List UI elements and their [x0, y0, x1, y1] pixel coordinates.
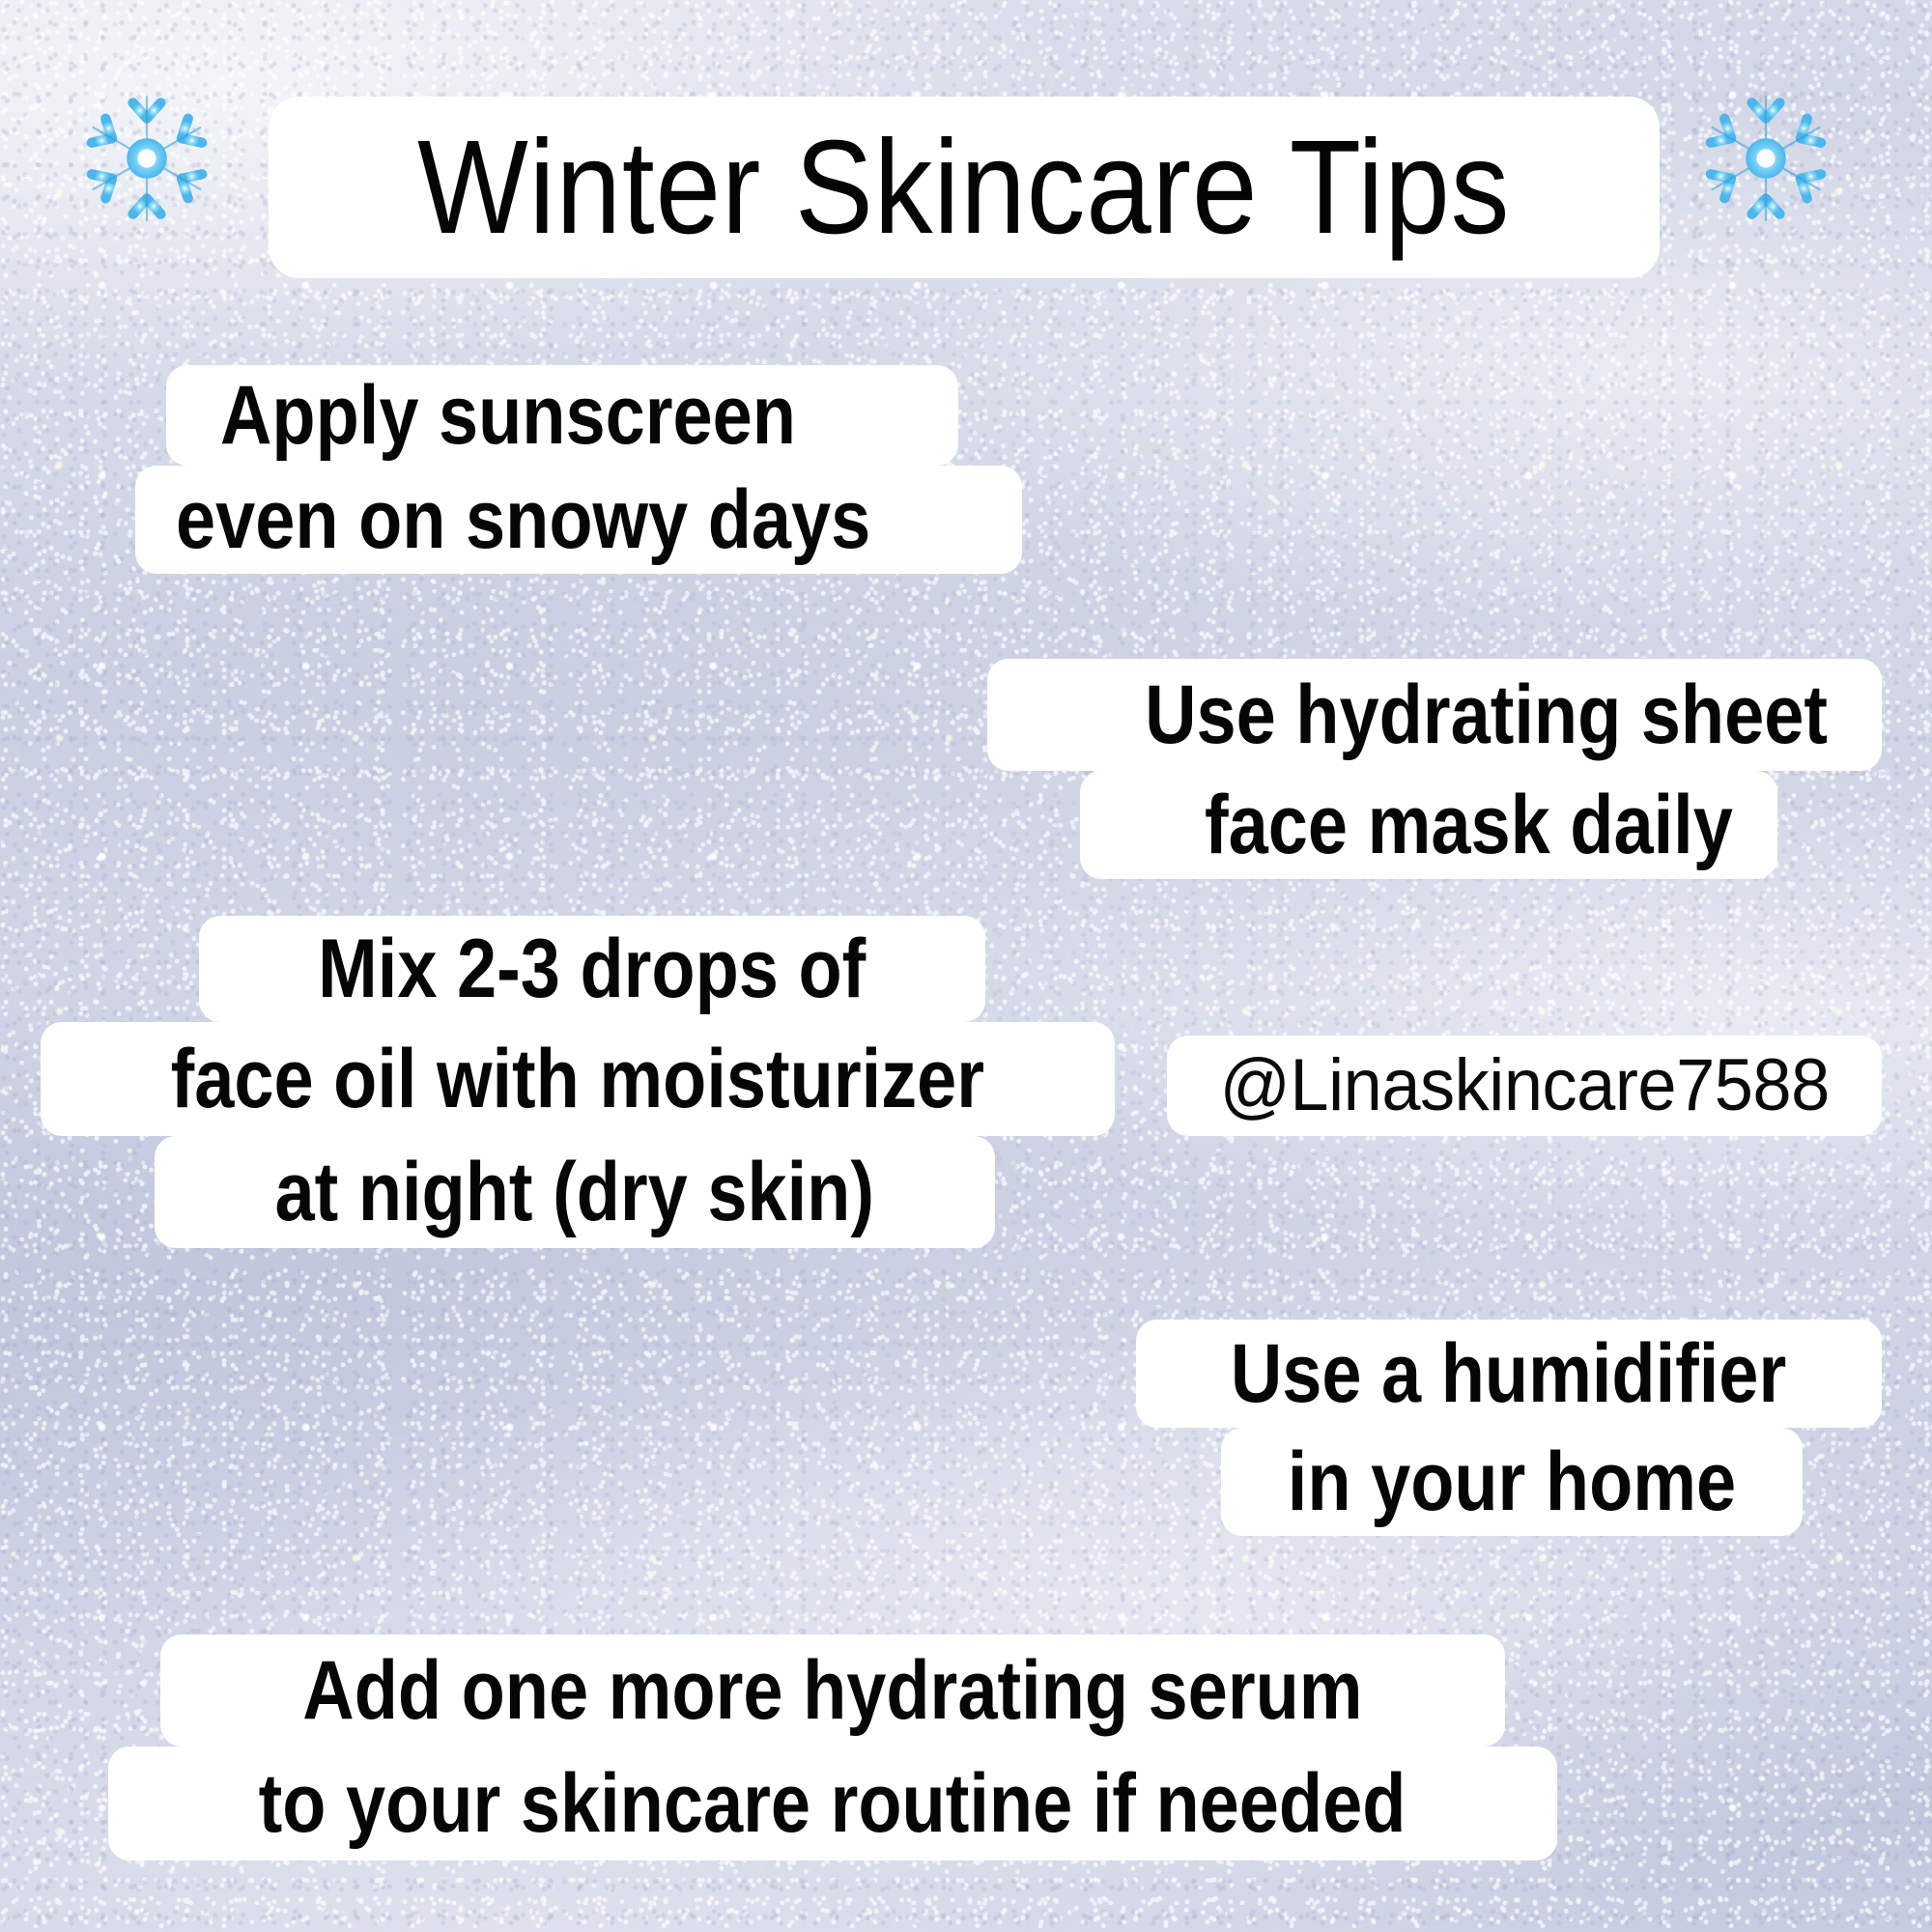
- tip-text: Add one more hydrating serum: [302, 1649, 1362, 1732]
- tip-face-oil-line-1: Mix 2-3 drops of: [199, 916, 985, 1022]
- tip-face-oil-line-2: face oil with moisturizer: [41, 1022, 1115, 1136]
- tip-sunscreen-line-2: even on snowy days: [135, 466, 1022, 574]
- snowflake-icon-right: [1689, 81, 1843, 236]
- tip-text: Apply sunscreen: [220, 374, 796, 457]
- tip-text: at night (dry skin): [275, 1151, 874, 1234]
- tip-text: Use hydrating sheet: [1145, 673, 1828, 756]
- tip-sheet-mask-line-2: face mask daily: [1080, 771, 1777, 879]
- tip-sheet-mask-line-1: Use hydrating sheet: [987, 659, 1882, 771]
- snowflake-icon-left: [70, 81, 224, 236]
- tip-text: Mix 2-3 drops of: [318, 927, 866, 1010]
- tip-serum-line-1: Add one more hydrating serum: [160, 1634, 1505, 1747]
- tip-text: to your skincare routine if needed: [259, 1762, 1406, 1845]
- poster-canvas: Winter Skincare Tips Apply sunscreen eve…: [0, 0, 1932, 1932]
- tip-text: in your home: [1288, 1440, 1736, 1523]
- tip-humidifier-line-1: Use a humidifier: [1136, 1320, 1882, 1428]
- tip-text: even on snowy days: [176, 478, 870, 561]
- tip-humidifier-line-2: in your home: [1221, 1428, 1803, 1536]
- page-title-chip: Winter Skincare Tips: [269, 97, 1660, 278]
- account-handle: @Linaskincare7588: [1219, 1049, 1829, 1122]
- tip-serum-line-2: to your skincare routine if needed: [108, 1747, 1557, 1861]
- tip-sunscreen-line-1: Apply sunscreen: [166, 365, 958, 466]
- account-handle-chip[interactable]: @Linaskincare7588: [1167, 1036, 1882, 1136]
- tip-text: face oil with moisturizer: [171, 1037, 984, 1121]
- tip-face-oil-line-3: at night (dry skin): [155, 1136, 995, 1248]
- page-title: Winter Skincare Tips: [417, 121, 1510, 254]
- tip-text: face mask daily: [1205, 783, 1733, 867]
- tip-text: Use a humidifier: [1231, 1332, 1786, 1415]
